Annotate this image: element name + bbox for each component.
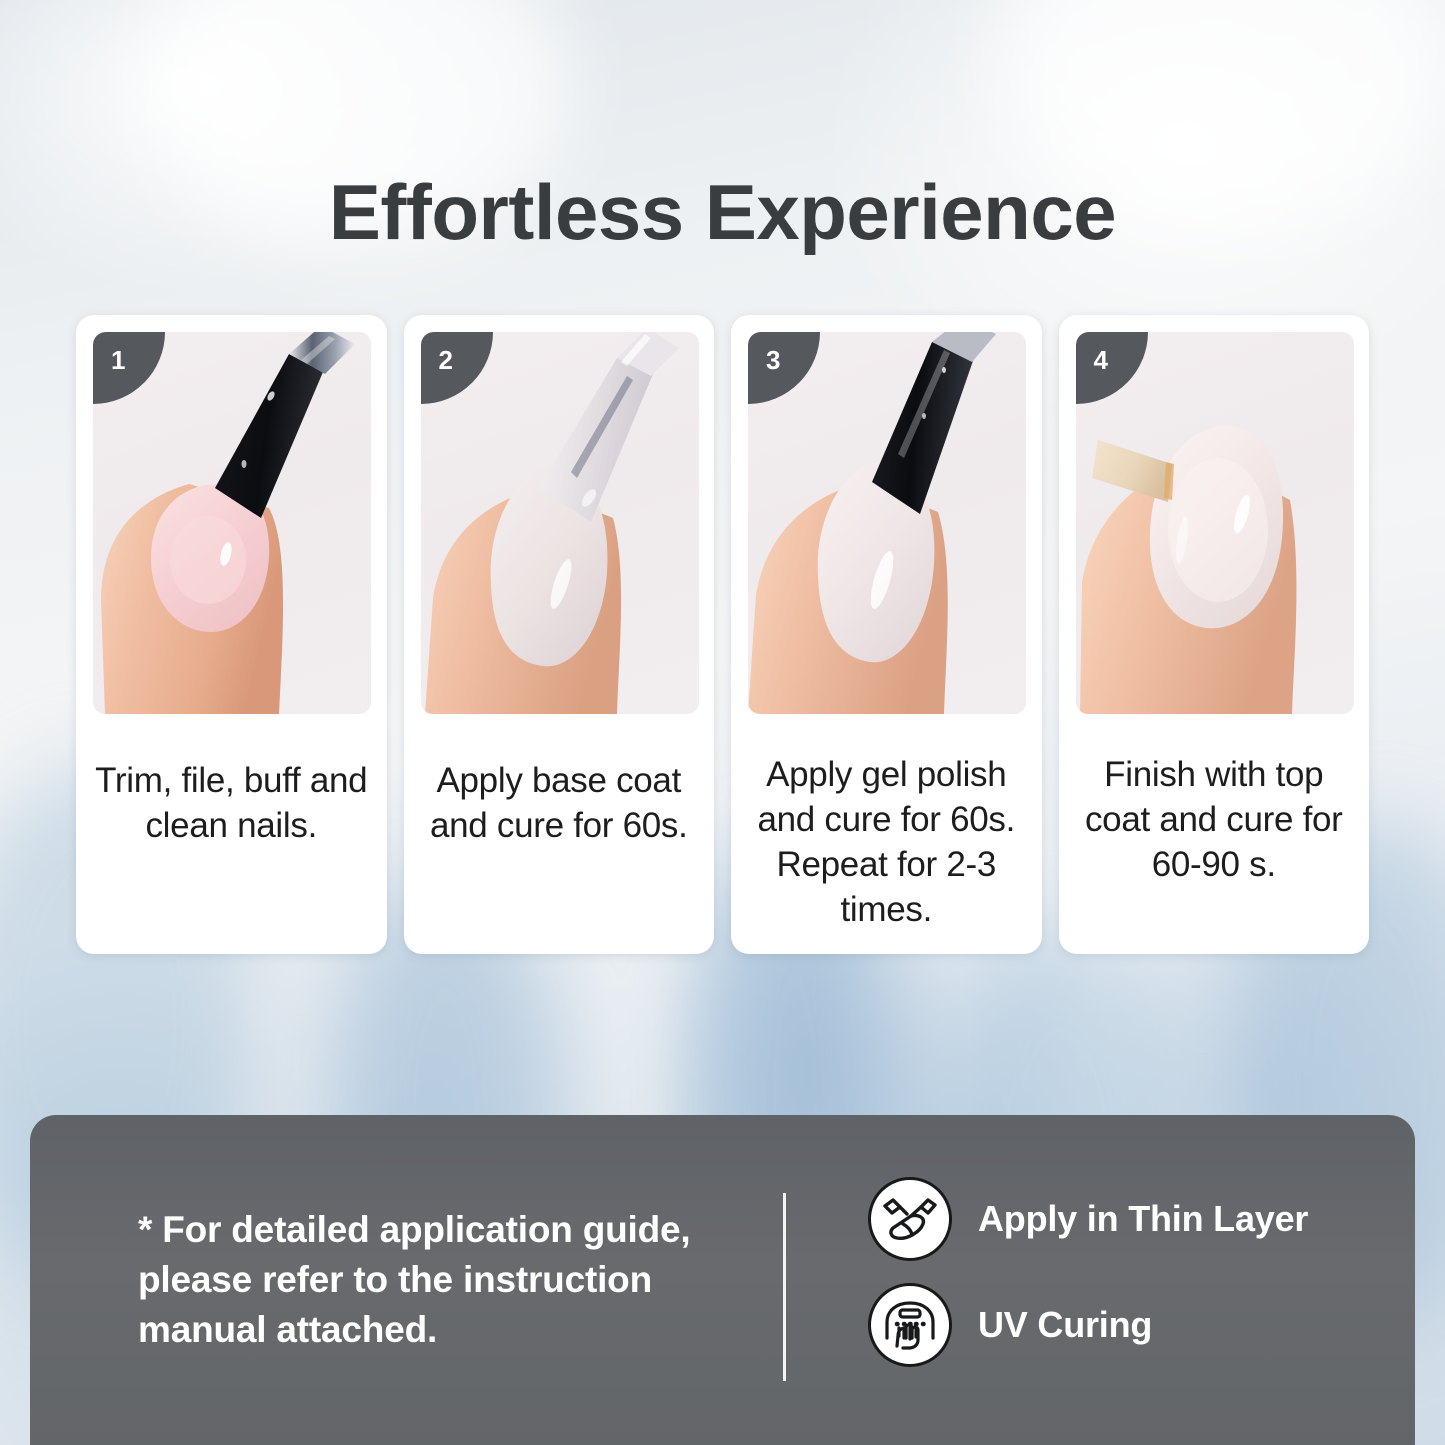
step-3-image: 3 [748, 332, 1026, 714]
steps-row: 1 Trim, file, buff and clean nails. [76, 315, 1369, 954]
step-card-2[interactable]: 2 Apply base coat and cure for 60s. [404, 315, 715, 954]
step-number-4: 4 [1094, 345, 1108, 376]
step-card-1[interactable]: 1 Trim, file, buff and clean nails. [76, 315, 387, 954]
step-card-3[interactable]: 3 Apply gel polish and cure for 60s. Rep… [731, 315, 1042, 954]
footer-note-text: For detailed application guide, please r… [138, 1209, 691, 1350]
step-caption-2: Apply base coat and cure for 60s. [421, 714, 698, 932]
step-number-3: 3 [766, 345, 780, 376]
promo-page: Effortless Experience [0, 0, 1445, 1445]
footer-note: *For detailed application guide, please … [138, 1205, 758, 1355]
feature-list: Apply in Thin Layer [868, 1177, 1308, 1367]
feature-label-thin-layer: Apply in Thin Layer [978, 1198, 1308, 1240]
step-number-2: 2 [439, 345, 453, 376]
step-1-image: 1 [93, 332, 371, 714]
step-2-image: 2 [421, 332, 699, 714]
step-card-4[interactable]: 4 Finish with top coat and cure for 60-9… [1059, 315, 1370, 954]
feature-label-uv-curing: UV Curing [978, 1304, 1152, 1346]
step-number-1: 1 [111, 345, 125, 376]
step-caption-3: Apply gel polish and cure for 60s. Repea… [748, 714, 1025, 932]
asterisk-marker: * [138, 1209, 152, 1250]
brush-thin-layer-icon [868, 1177, 952, 1261]
step-caption-1: Trim, file, buff and clean nails. [93, 714, 370, 932]
footer-divider [783, 1193, 786, 1381]
footer-panel: *For detailed application guide, please … [30, 1115, 1415, 1445]
step-caption-4: Finish with top coat and cure for 60-90 … [1076, 714, 1353, 932]
uv-lamp-icon [868, 1283, 952, 1367]
feature-apply-thin-layer: Apply in Thin Layer [868, 1177, 1308, 1261]
feature-uv-curing: UV Curing [868, 1283, 1308, 1367]
step-4-image: 4 [1076, 332, 1354, 714]
page-title: Effortless Experience [0, 164, 1445, 260]
